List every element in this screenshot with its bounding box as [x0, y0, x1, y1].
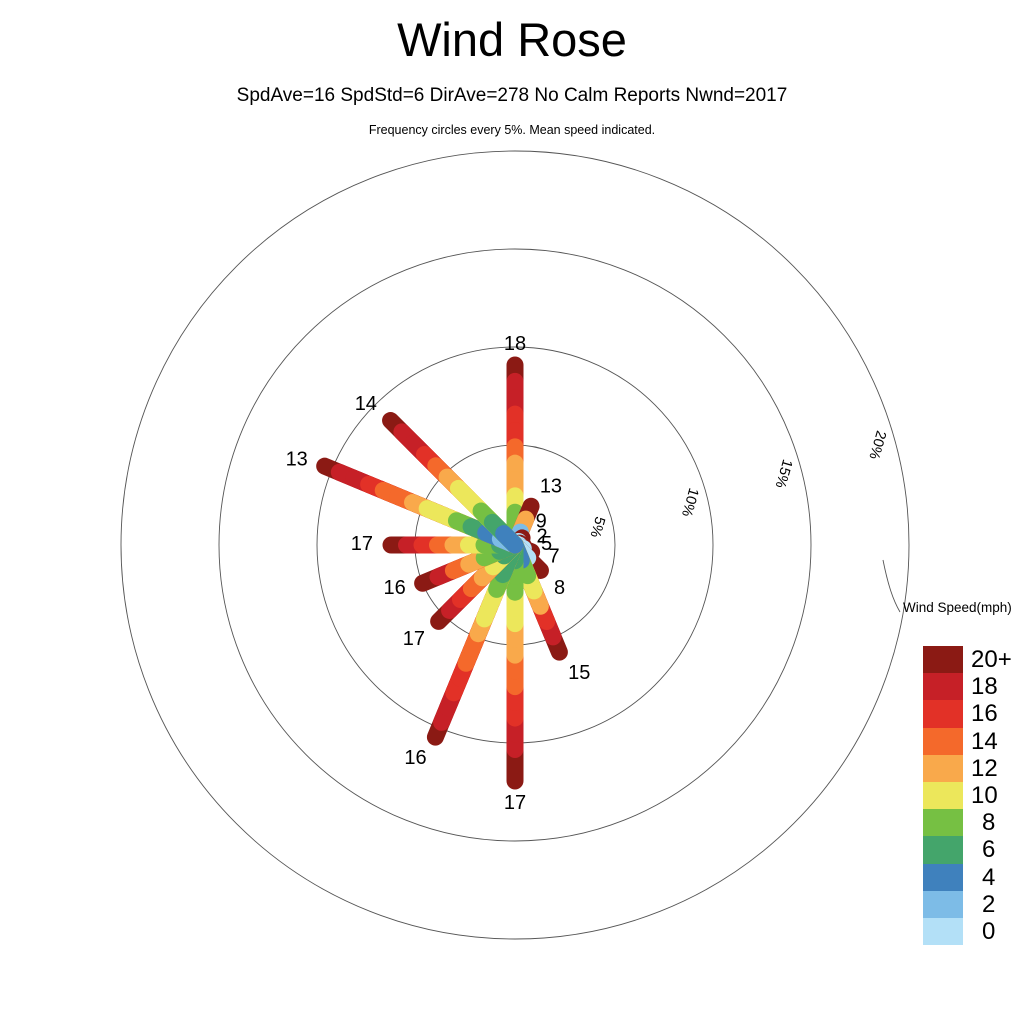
legend-row: 14 — [923, 728, 963, 755]
legend-row: 20+ — [923, 646, 963, 673]
petal-mean-speed-label: 17 — [403, 628, 425, 650]
ring-percent-label: 10% — [678, 486, 701, 518]
legend-color-swatch — [923, 891, 963, 919]
legend-color-swatch — [923, 646, 963, 674]
ring-label-group: 20% — [865, 429, 888, 461]
wind-rose-plot: 5%10%15%20%1813925781517161716171314 — [0, 0, 1024, 1024]
legend-label: 0 — [971, 919, 1024, 945]
legend-color-swatch — [923, 755, 963, 783]
legend-row: 4 — [923, 864, 963, 891]
legend-row: 16 — [923, 700, 963, 727]
legend-color-swatch — [923, 700, 963, 728]
legend-label: 20+ — [971, 647, 1024, 673]
legend-label: 2 — [971, 892, 1024, 918]
legend-label: 6 — [971, 837, 1024, 863]
legend-label: 18 — [971, 674, 1024, 700]
legend-color-swatch — [923, 728, 963, 756]
wind-rose-chart: Wind Rose SpdAve=16 SpdStd=6 DirAve=278 … — [0, 0, 1024, 1024]
legend-label: 8 — [971, 810, 1024, 836]
petal-mean-speed-label: 8 — [554, 577, 565, 599]
ring-label-group: 5% — [586, 515, 607, 540]
legend-title: Wind Speed(mph) — [903, 600, 1012, 615]
legend-label: 12 — [971, 756, 1024, 782]
ring-percent-label: 15% — [772, 457, 795, 489]
legend-color-swatch — [923, 782, 963, 810]
ring-percent-label: 5% — [586, 515, 607, 540]
legend-row: 12 — [923, 755, 963, 782]
legend-row: 6 — [923, 836, 963, 863]
petal-mean-speed-label: 13 — [286, 448, 308, 470]
legend-row: 0 — [923, 918, 963, 945]
legend-leader-line — [883, 560, 900, 612]
legend-color-swatch — [923, 809, 963, 837]
legend-color-swatch — [923, 864, 963, 892]
ring-label-group: 15% — [772, 457, 795, 489]
legend-label: 10 — [971, 783, 1024, 809]
petal-mean-speed-label: 17 — [351, 533, 373, 555]
legend-color-swatch — [923, 918, 963, 946]
legend-row: 10 — [923, 782, 963, 809]
petal-mean-speed-label: 16 — [384, 577, 406, 599]
petal-mean-speed-label: 17 — [504, 792, 526, 814]
petal-mean-speed-label: 14 — [355, 393, 377, 415]
legend-color-swatch — [923, 836, 963, 864]
legend-row: 18 — [923, 673, 963, 700]
legend-label: 14 — [971, 729, 1024, 755]
ring-percent-label: 20% — [865, 429, 888, 461]
wind-speed-legend: 20+181614121086420 — [923, 646, 963, 945]
petal-mean-speed-label: 18 — [504, 333, 526, 355]
legend-label: 16 — [971, 701, 1024, 727]
legend-row: 2 — [923, 891, 963, 918]
petal-mean-speed-label: 13 — [540, 475, 562, 497]
petal-mean-speed-label: 7 — [548, 546, 559, 568]
petal-mean-speed-label: 16 — [404, 747, 426, 769]
petal-mean-speed-label: 15 — [568, 662, 590, 684]
legend-color-swatch — [923, 673, 963, 701]
legend-label: 4 — [971, 865, 1024, 891]
petal-speed-segment — [504, 534, 515, 545]
legend-row: 8 — [923, 809, 963, 836]
ring-label-group: 10% — [678, 486, 701, 518]
